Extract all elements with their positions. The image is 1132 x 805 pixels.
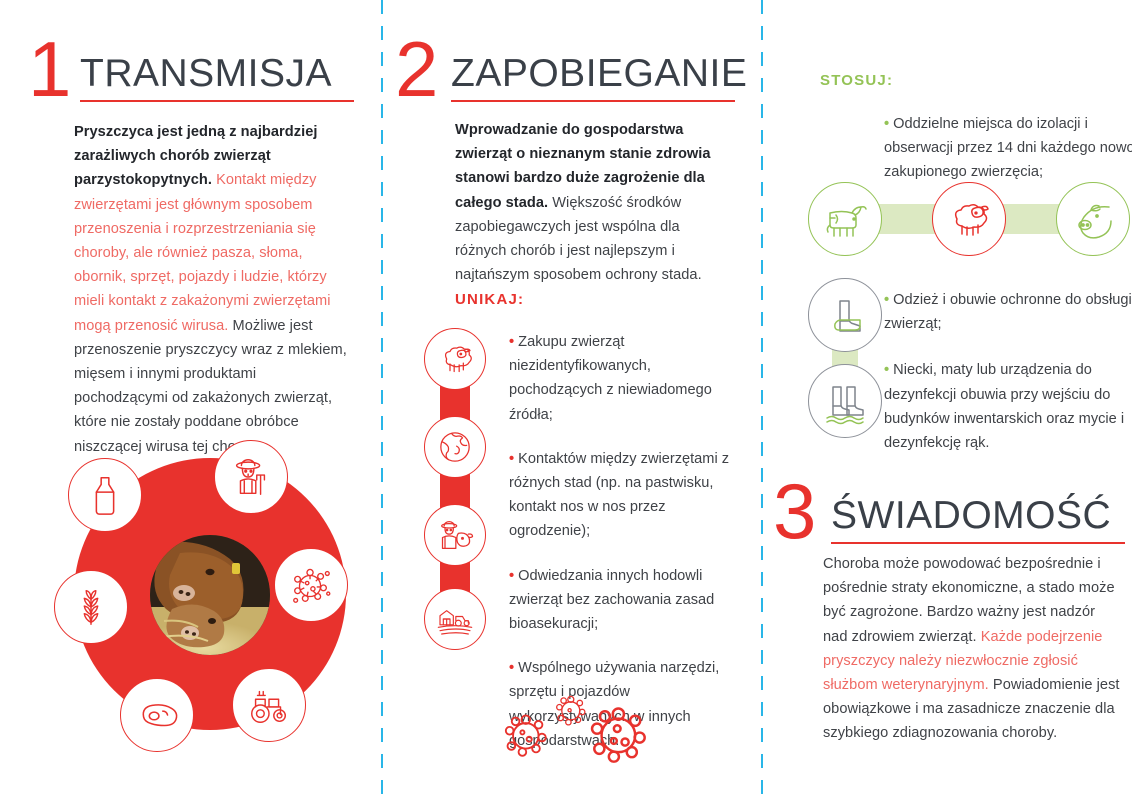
list-item: • Niecki, maty lub urządzenia do dezynfe… (884, 358, 1132, 455)
unikaj-item-text: Zakupu zwierząt niezidentyfikowanych, po… (509, 334, 712, 423)
globe-icon (424, 416, 486, 478)
virus-particles (492, 692, 682, 772)
farmer-icon (214, 440, 288, 514)
boot-icon-rail (808, 278, 886, 438)
list-item: • Odzież i obuwie ochronne do obsługi zw… (884, 288, 1132, 336)
boot-icon (808, 278, 882, 352)
cow-and-calf-photo (150, 535, 270, 655)
bullet-dot: • (884, 362, 889, 378)
meat-steak-icon (120, 678, 194, 752)
bullet-dot: • (884, 292, 889, 308)
rail-connector-bar (440, 356, 470, 624)
tractor-icon (232, 668, 306, 742)
section-zapobieganie: 2 ZAPOBIEGANIE Wprowadzanie do gospodars… (383, 0, 761, 805)
unikaj-icon-rail (424, 328, 486, 650)
animal-icon-row (808, 182, 1130, 262)
infographic-page: 1 TRANSMISJA Pryszczyca jest jedną z naj… (0, 0, 1132, 805)
title-underline (831, 542, 1125, 544)
section-title-transmisja: TRANSMISJA (80, 26, 354, 96)
zapobieganie-body: Wprowadzanie do gospodarstwa zwierząt o … (455, 118, 732, 287)
cow-icon (808, 182, 882, 256)
unikaj-item-text: Kontaktów między zwierzętami z różnych s… (509, 451, 729, 540)
section-title-swiadomosc: ŚWIADOMOŚĆ (831, 468, 1125, 538)
section-transmisja: 1 TRANSMISJA Pryszczyca jest jedną z naj… (0, 0, 381, 805)
bullet-dot: • (884, 116, 889, 132)
section-stosuj-swiadomosc: STOSUJ: • Oddzielne miejsca do izolacji … (763, 0, 1132, 805)
bullet-dot: • (509, 334, 514, 350)
bullet-dot: • (509, 451, 514, 467)
wheat-icon (54, 570, 128, 644)
list-item: • Oddzielne miejsca do izolacji i obserw… (884, 112, 1132, 185)
virus-icon (274, 548, 348, 622)
transmisja-red-paragraph: Kontakt między zwierzętami jest głównym … (74, 172, 331, 333)
boots-in-water-icon (808, 364, 882, 438)
transmission-ring-graphic (62, 440, 362, 750)
swiadomosc-body: Choroba może powodować bezpośrednie i po… (823, 552, 1123, 746)
bullet-dot: • (509, 660, 514, 676)
stosuj-first-item-text: Oddzielne miejsca do izolacji i obserwac… (884, 116, 1132, 180)
list-item: • Kontaktów między zwierzętami z różnych… (509, 447, 745, 544)
barn-tractor-icon (424, 588, 486, 650)
stosuj-item-text: Niecki, maty lub urządzenia do dezynfekc… (884, 362, 1124, 451)
list-item: • Zakupu zwierząt niezidentyfikowanych, … (509, 330, 745, 427)
title-underline (451, 100, 735, 102)
transmisja-dark-paragraph: Możliwe jest przenoszenie pryszczycy wra… (74, 318, 347, 455)
transmisja-body: Pryszczyca jest jedną z najbardziej zara… (74, 120, 354, 459)
sheep-icon (424, 328, 486, 390)
section-number-1: 1 (28, 30, 71, 108)
farmer-with-cow-icon (424, 504, 486, 566)
bullet-dot: • (509, 568, 514, 584)
sheep-icon (932, 182, 1006, 256)
title-underline (80, 100, 354, 102)
section-title-zapobieganie: ZAPOBIEGANIE (451, 26, 735, 96)
stosuj-label: STOSUJ: (820, 72, 893, 89)
milk-bottle-icon (68, 458, 142, 532)
unikaj-label: UNIKAJ: (455, 291, 524, 308)
list-item: • Odwiedzania innych hodowli zwierząt be… (509, 564, 745, 637)
unikaj-item-text: Odwiedzania innych hodowli zwierząt bez … (509, 568, 714, 632)
section-number-2: 2 (395, 30, 438, 108)
stosuj-item-text: Odzież i obuwie ochronne do obsługi zwie… (884, 292, 1132, 332)
section-number-3: 3 (773, 472, 816, 550)
pig-icon (1056, 182, 1130, 256)
